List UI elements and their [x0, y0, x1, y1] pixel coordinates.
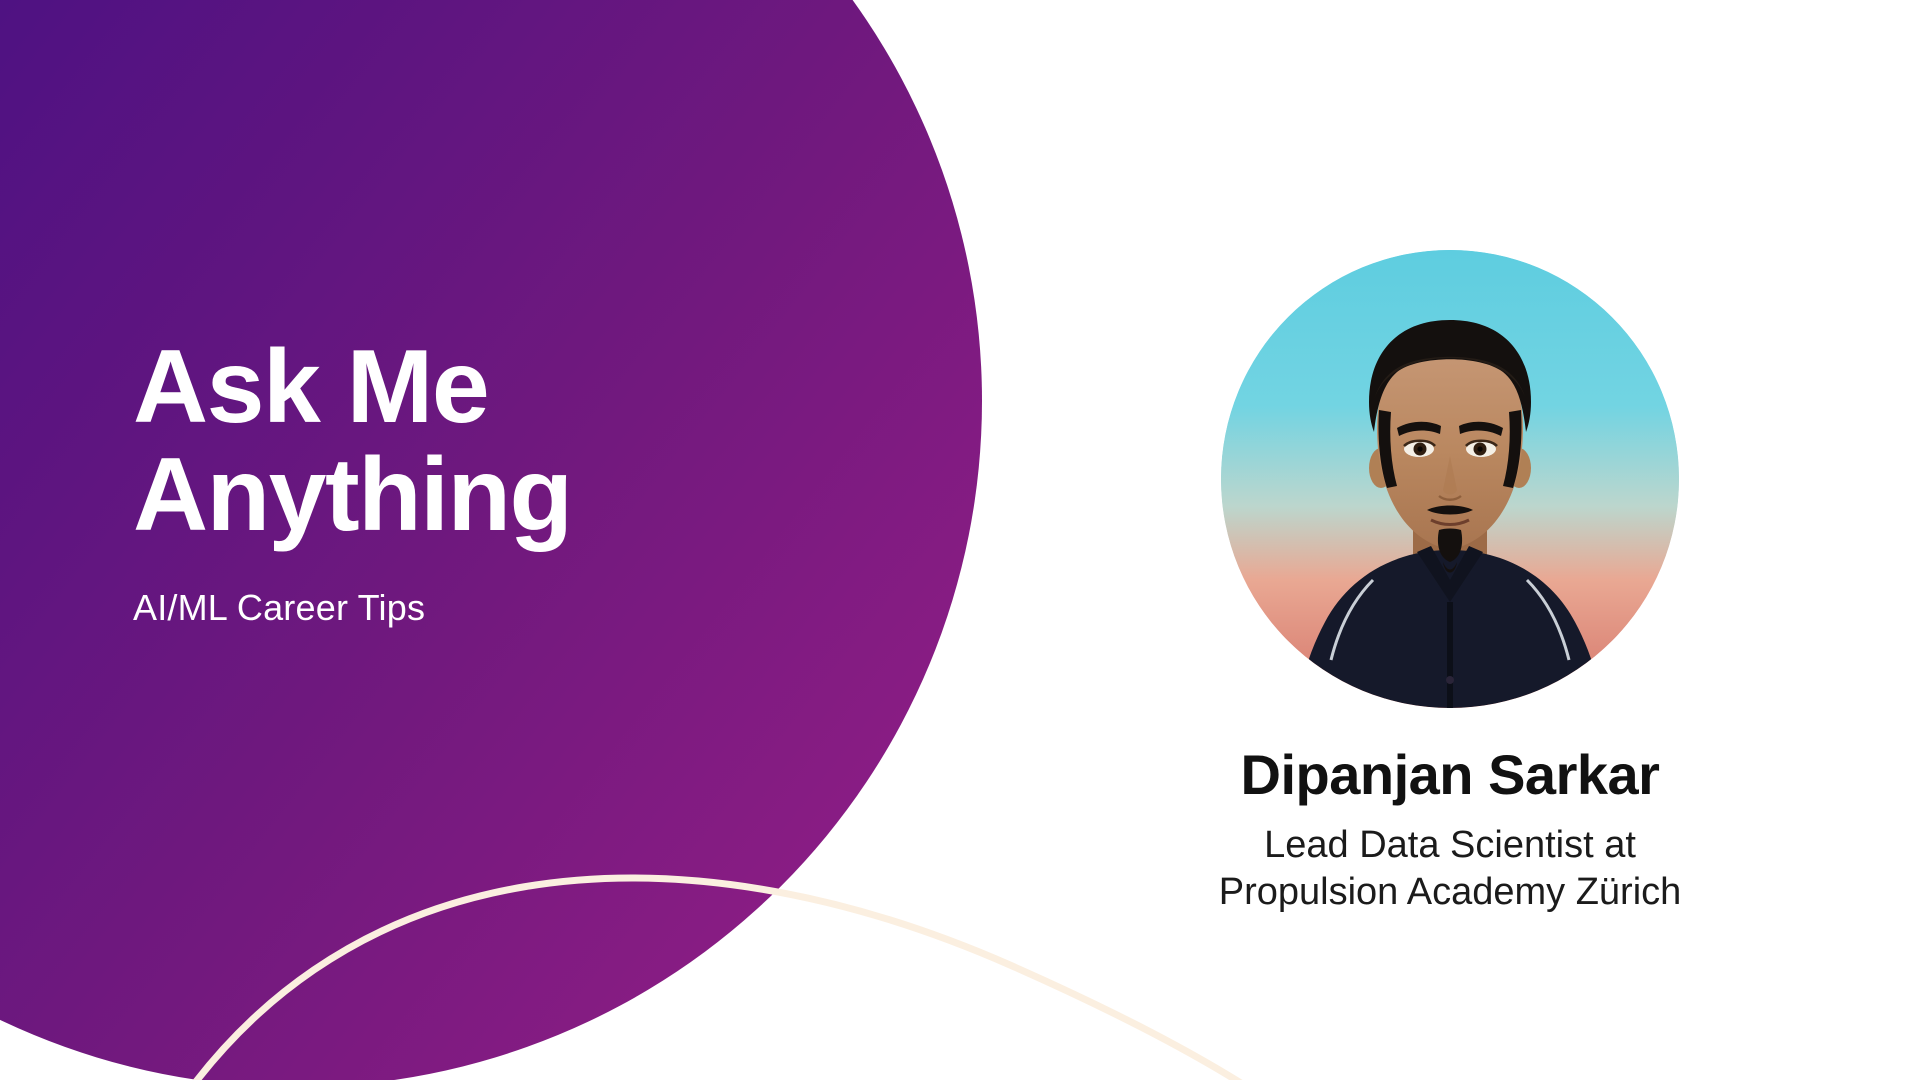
speaker-name: Dipanjan Sarkar	[1060, 744, 1840, 806]
speaker-block: Dipanjan Sarkar Lead Data Scientist at P…	[1060, 250, 1840, 917]
page-subtitle: AI/ML Career Tips	[133, 587, 893, 629]
portrait-photo-illustration	[1221, 250, 1679, 708]
headline-block: Ask Me Anything AI/ML Career Tips	[133, 333, 893, 629]
slide-root: Ask Me Anything AI/ML Career Tips	[0, 0, 1920, 1080]
page-title: Ask Me Anything	[133, 333, 893, 549]
avatar	[1221, 250, 1679, 708]
speaker-role: Lead Data Scientist at Propulsion Academ…	[1060, 822, 1840, 918]
